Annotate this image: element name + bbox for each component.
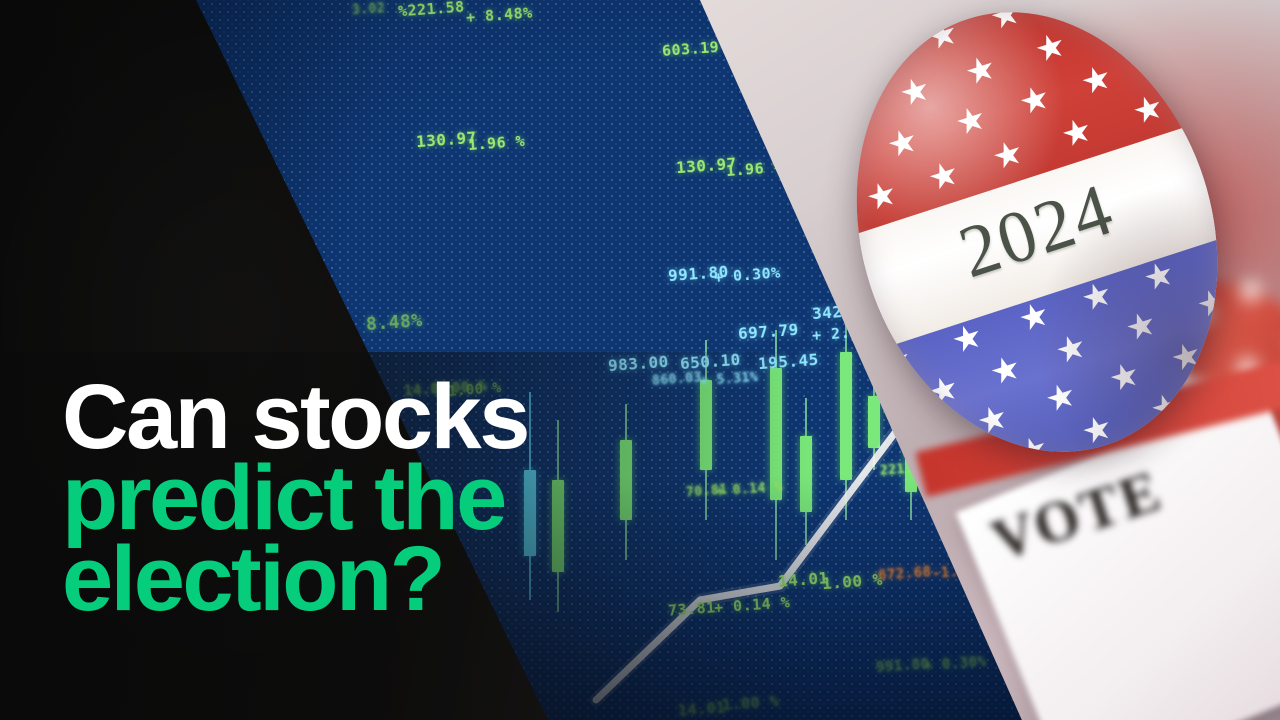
page-title: Can stocks predict the election? bbox=[62, 378, 822, 619]
thumbnail-canvas: 3.02%221.58+ 8.48%603.19130.971.96 %130.… bbox=[0, 0, 1280, 720]
headline-line-2: predict the bbox=[62, 459, 822, 538]
headline-line-1: Can stocks bbox=[62, 378, 822, 457]
headline-line-3: election? bbox=[62, 540, 822, 619]
